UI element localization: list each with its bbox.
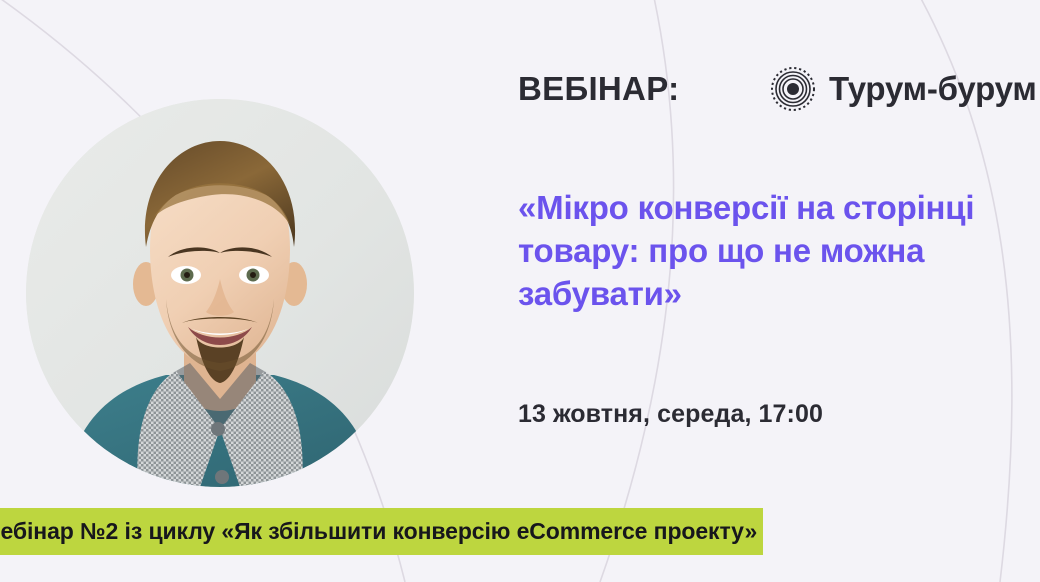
concentric-circles-logo-icon [770,66,816,112]
title-line-1: «Мікро конверсії на сторінці [518,186,1040,229]
content-column: ВЕБІНАР: Турум-бурум «Мікро конверсії на… [518,0,1040,582]
brand-lockup: Турум-бурум [770,62,1037,116]
brand-name: Турум-бурум [829,70,1037,108]
title-line-2: товару: про що не можна [518,229,1040,272]
webinar-poster: ВЕБІНАР: Турум-бурум «Мікро конверсії на… [0,0,1040,582]
speaker-photo [26,99,414,487]
header-row: ВЕБІНАР: Турум-бурум [518,62,1040,116]
webinar-title: «Мікро конверсії на сторінці товару: про… [518,186,1040,315]
title-line-3: забувати» [518,272,1040,315]
webinar-datetime: 13 жовтня, середа, 17:00 [518,400,823,429]
series-ribbon: Вебінар №2 із циклу «Як збільшити конвер… [0,508,763,555]
eyebrow-label: ВЕБІНАР: [518,70,679,108]
series-ribbon-text: Вебінар №2 із циклу «Як збільшити конвер… [0,518,757,545]
